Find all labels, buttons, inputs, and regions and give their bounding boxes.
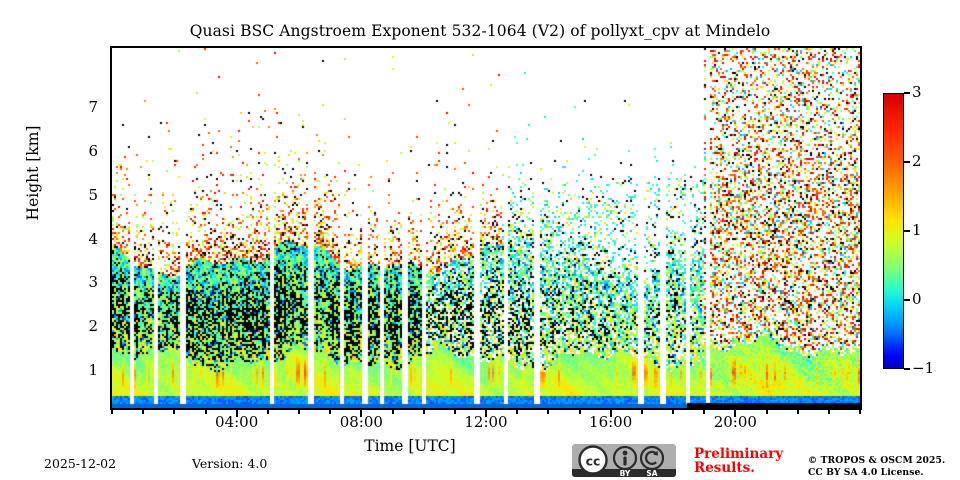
cc-license-badge[interactable]: cc BY SA xyxy=(572,444,676,477)
plot-area[interactable] xyxy=(110,46,862,410)
x-tick-mark-minor xyxy=(703,410,705,414)
colorbar-tick-label: 0 xyxy=(912,292,952,307)
y-tick-label: 3 xyxy=(58,275,98,290)
y-tick-label: 7 xyxy=(58,100,98,115)
copyright-line-2: CC BY SA 4.0 License. xyxy=(808,467,958,479)
x-tick-mark-minor xyxy=(173,410,175,414)
copyright-note: © TROPOS & OSCM 2025. CC BY SA 4.0 Licen… xyxy=(808,455,958,480)
svg-text:cc: cc xyxy=(586,454,601,469)
figure-version: Version: 4.0 xyxy=(192,456,267,471)
copyright-line-1: © TROPOS & OSCM 2025. xyxy=(808,455,958,467)
x-tick-mark-minor xyxy=(828,410,830,414)
colorbar-tick-mark xyxy=(904,299,910,301)
colorbar-tick-label: 3 xyxy=(912,85,952,100)
y-tick-label: 2 xyxy=(58,319,98,334)
x-tick-label: 08:00 xyxy=(321,415,401,430)
x-tick-mark-minor xyxy=(766,410,768,414)
colorbar-tick-label: 1 xyxy=(912,223,952,238)
colorbar-tick-mark xyxy=(904,161,910,163)
x-tick-mark-minor xyxy=(454,410,456,414)
colorbar-tick-mark xyxy=(904,230,910,232)
x-tick-label: 20:00 xyxy=(695,415,775,430)
x-tick-label: 16:00 xyxy=(571,415,651,430)
y-tick-label: 1 xyxy=(58,363,98,378)
y-tick-label: 6 xyxy=(58,144,98,159)
figure-date: 2025-12-02 xyxy=(44,456,116,471)
y-tick-label: 4 xyxy=(58,232,98,247)
y-axis-label-wrap: Height [km] xyxy=(18,128,48,238)
x-tick-mark-minor xyxy=(392,410,394,414)
x-tick-label: 04:00 xyxy=(197,415,277,430)
x-tick-mark-minor xyxy=(641,410,643,414)
colorbar-tick-mark xyxy=(904,368,910,370)
x-tick-mark-minor xyxy=(423,410,425,414)
colorbar-gradient xyxy=(884,94,903,368)
y-tick-label: 5 xyxy=(58,188,98,203)
svg-text:SA: SA xyxy=(646,469,657,477)
chart-title: Quasi BSC Angstroem Exponent 532-1064 (V… xyxy=(0,22,960,40)
x-tick-mark-minor xyxy=(672,410,674,414)
x-tick-mark-minor xyxy=(516,410,518,414)
x-tick-label: 12:00 xyxy=(446,415,526,430)
x-tick-mark-minor xyxy=(205,410,207,414)
x-tick-mark-minor xyxy=(111,410,113,414)
x-tick-mark-minor xyxy=(859,410,861,414)
x-tick-mark-minor xyxy=(547,410,549,414)
colorbar-tick-label: 2 xyxy=(912,154,952,169)
colorbar xyxy=(883,93,904,369)
x-tick-mark-minor xyxy=(298,410,300,414)
cc-by-sa-icon: cc BY SA xyxy=(572,444,676,477)
preliminary-results-note: Preliminary Results. xyxy=(694,447,804,475)
x-tick-mark-minor xyxy=(797,410,799,414)
y-axis-label: Height [km] xyxy=(24,118,42,228)
colorbar-tick-mark xyxy=(904,92,910,94)
quicklook-figure: Quasi BSC Angstroem Exponent 532-1064 (V… xyxy=(0,0,960,480)
svg-text:BY: BY xyxy=(620,469,631,477)
x-tick-mark-minor xyxy=(142,410,144,414)
x-tick-mark-minor xyxy=(579,410,581,414)
preliminary-line-2: Results. xyxy=(694,461,804,475)
x-tick-mark-minor xyxy=(267,410,269,414)
preliminary-line-1: Preliminary xyxy=(694,447,804,461)
colorbar-tick-label: −1 xyxy=(912,361,952,376)
heatmap-canvas[interactable] xyxy=(112,48,860,408)
x-tick-mark-minor xyxy=(329,410,331,414)
